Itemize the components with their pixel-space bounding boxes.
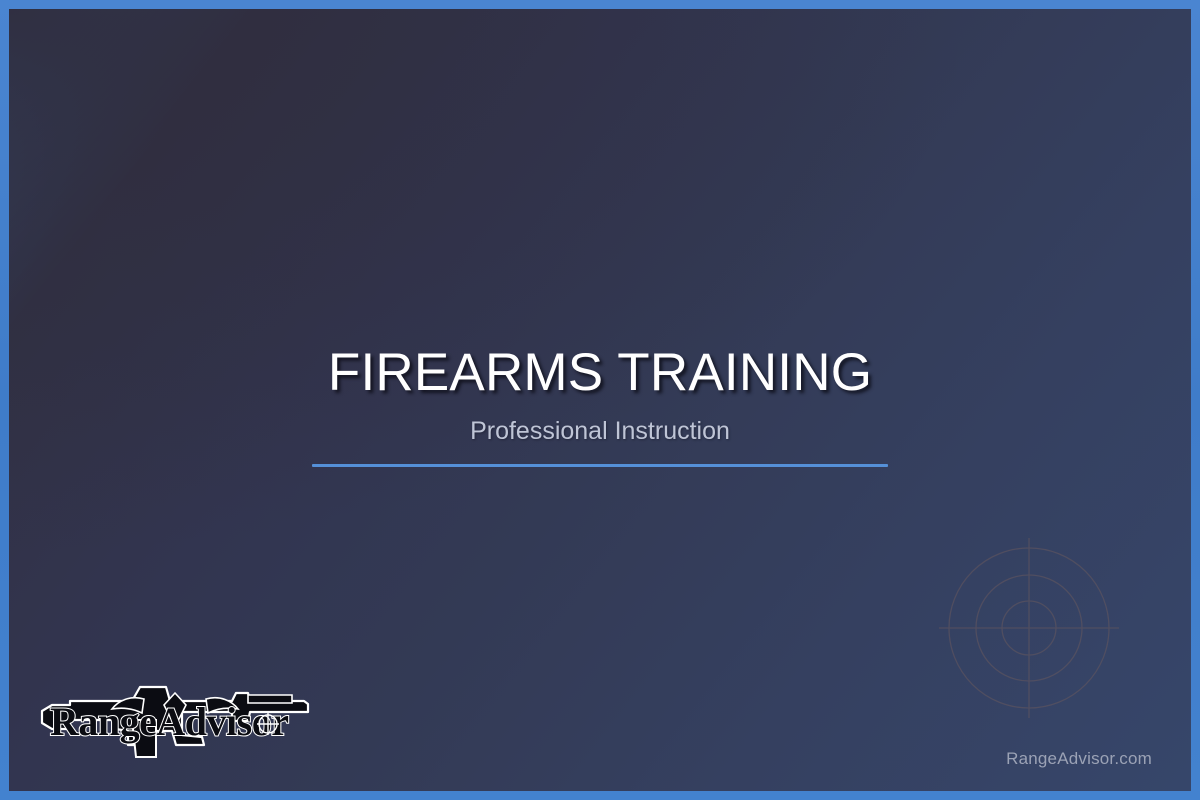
brand-logo[interactable]: RangeAdvisor — [36, 679, 314, 761]
logo-wordmark: RangeAdvisor — [50, 699, 288, 744]
accent-divider — [312, 464, 888, 467]
presentation-slide: FIREARMS TRAINING Professional Instructi… — [0, 0, 1200, 800]
slide-canvas: FIREARMS TRAINING Professional Instructi… — [9, 9, 1191, 791]
page-subtitle: Professional Instruction — [9, 414, 1191, 448]
title-block: FIREARMS TRAINING Professional Instructi… — [9, 342, 1191, 467]
page-title: FIREARMS TRAINING — [9, 342, 1191, 404]
footer-website-label: RangeAdvisor.com — [1006, 749, 1152, 769]
target-reticle-icon — [929, 528, 1129, 728]
